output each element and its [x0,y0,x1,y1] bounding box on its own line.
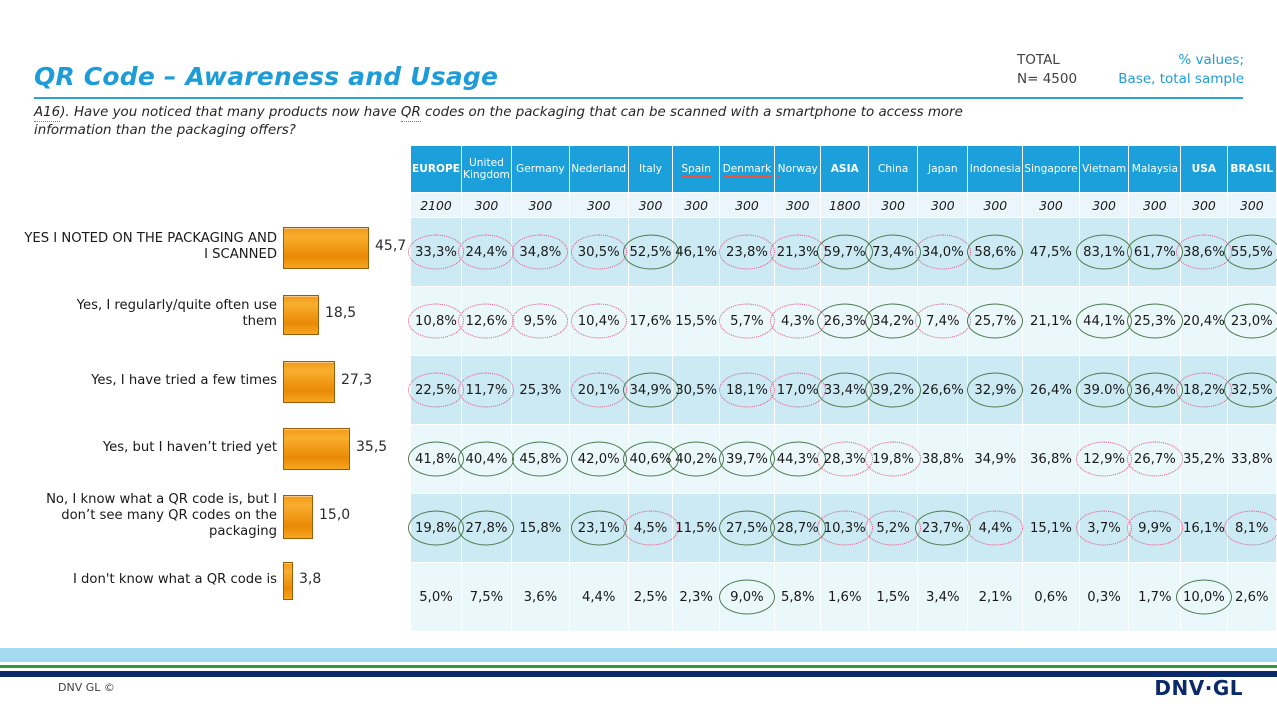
table-cell: 9,9% [1129,494,1181,563]
table-cell: 30,5% [569,218,628,287]
column-base-value: 300 [462,193,512,218]
table-cell: 1,7% [1129,563,1181,632]
cell-value: 1,6% [828,590,862,605]
cell-value: 12,6% [465,314,507,329]
table-cell: 19,8% [411,494,462,563]
column-header-spain[interactable]: Spain [673,146,719,193]
question-code: A16 [34,105,60,122]
cell-value: 42,0% [578,452,620,467]
column-header-vietnam[interactable]: Vietnam [1079,146,1129,193]
bar-rect [283,428,350,470]
table-cell: 38,6% [1181,218,1227,287]
table-cell: 40,2% [673,425,719,494]
table-row: 33,3%24,4%34,8%30,5%52,5%46,1%23,8%21,3%… [411,218,1277,287]
table-cell: 4,3% [775,287,821,356]
cell-value: 40,2% [675,452,717,467]
total-base-block: TOTAL N= 4500 [1017,51,1097,89]
cell-value: 7,5% [470,590,504,605]
column-header-italy[interactable]: Italy [628,146,673,193]
cell-value: 0,6% [1034,590,1068,605]
table-cell: 21,3% [775,218,821,287]
cell-value: 22,5% [415,383,457,398]
cell-value: 19,8% [872,452,914,467]
bar-label: I don't know what a QR code is [0,572,277,588]
cell-value: 34,9% [630,383,672,398]
table-cell: 30,5% [673,356,719,425]
cell-value: 34,0% [922,245,964,260]
table-cell: 34,9% [628,356,673,425]
table-cell: 18,2% [1181,356,1227,425]
column-base-value: 300 [628,193,673,218]
cell-value: 28,3% [824,452,866,467]
cell-value: 11,5% [675,521,717,536]
table-cell: 15,1% [1023,494,1079,563]
column-base-value: 1800 [821,193,869,218]
cell-value: 25,3% [1134,314,1176,329]
table-cell: 36,4% [1129,356,1181,425]
table-cell: 3,4% [918,563,968,632]
cell-value: 16,1% [1183,521,1225,536]
column-base-value: 300 [1181,193,1227,218]
table-cell: 39,7% [719,425,774,494]
table-cell: 32,9% [968,356,1023,425]
cell-value: 39,7% [726,452,768,467]
cell-value: 10,3% [824,521,866,536]
table-cell: 23,1% [569,494,628,563]
column-base-value: 300 [1023,193,1079,218]
question-text: A16). Have you noticed that many product… [34,104,984,139]
table-cell: 33,4% [821,356,869,425]
bar-rect [283,227,369,269]
table-cell: 33,3% [411,218,462,287]
bar-value-label: 3,8 [299,571,321,587]
cell-value: 15,5% [675,314,717,329]
cell-value: 26,4% [1030,383,1072,398]
cell-value: 20,1% [578,383,620,398]
cell-value: 59,7% [824,245,866,260]
table-cell: 41,8% [411,425,462,494]
question-text-part1: ). Have you noticed that many products n… [60,105,401,120]
table-cell: 45,8% [511,425,569,494]
cell-value: 36,8% [1030,452,1072,467]
cell-value: 10,8% [415,314,457,329]
cell-value: 8,1% [1235,521,1269,536]
cell-value: 9,0% [730,590,764,605]
table-cell: 10,8% [411,287,462,356]
table-cell: 20,4% [1181,287,1227,356]
bar-value-label: 18,5 [325,305,356,321]
table-cell: 12,6% [462,287,512,356]
cell-value: 34,2% [872,314,914,329]
cell-value: 23,8% [726,245,768,260]
cell-value: 2,6% [1235,590,1269,605]
footer-band-navy [0,671,1277,677]
column-header-united-kingdom[interactable]: UnitedKingdom [462,146,512,193]
cell-value: 34,8% [519,245,561,260]
table-cell: 0,3% [1079,563,1129,632]
cell-value: 38,6% [1183,245,1225,260]
cell-value: 5,7% [730,314,764,329]
values-note-block: % values; Base, total sample [1094,51,1244,89]
column-header-indonesia[interactable]: Indonesia [968,146,1023,193]
table-base-row: 2100300300300300300300300180030030030030… [411,193,1277,218]
table-cell: 9,0% [719,563,774,632]
cell-value: 15,1% [1030,521,1072,536]
cell-value: 32,5% [1231,383,1273,398]
table-cell: 34,8% [511,218,569,287]
column-header-germany[interactable]: Germany [511,146,569,193]
cell-value: 23,1% [578,521,620,536]
table-cell: 47,5% [1023,218,1079,287]
table-cell: 2,6% [1227,563,1276,632]
cell-value: 20,4% [1183,314,1225,329]
page-title: QR Code – Awareness and Usage [34,62,498,91]
table-cell: 9,5% [511,287,569,356]
cell-value: 21,3% [777,245,819,260]
column-base-value: 300 [869,193,918,218]
table-cell: 7,5% [462,563,512,632]
table-row: 10,8%12,6%9,5%10,4%17,6%15,5%5,7%4,3%26,… [411,287,1277,356]
cell-value: 3,6% [524,590,558,605]
cell-value: 4,4% [979,521,1013,536]
cell-value: 25,7% [974,314,1016,329]
cell-value: 55,5% [1231,245,1273,260]
column-base-value: 300 [1129,193,1181,218]
cell-value: 5,2% [876,521,910,536]
title-divider [34,97,1243,99]
table-cell: 5,7% [719,287,774,356]
table-cell: 11,7% [462,356,512,425]
bar-label: Yes, I have tried a few times [0,373,277,389]
table-cell: 26,3% [821,287,869,356]
cell-value: 1,7% [1138,590,1172,605]
column-header-brasil[interactable]: BRASIL [1227,146,1276,193]
table-cell: 26,6% [918,356,968,425]
column-base-value: 300 [719,193,774,218]
bar-rect [283,562,293,600]
table-cell: 33,8% [1227,425,1276,494]
table-cell: 17,0% [775,356,821,425]
bar-rect [283,361,335,403]
table-cell: 34,2% [869,287,918,356]
table-cell: 3,6% [511,563,569,632]
cell-value: 27,5% [726,521,768,536]
table-cell: 5,2% [869,494,918,563]
table-cell: 28,3% [821,425,869,494]
cell-value: 33,4% [824,383,866,398]
cell-value: 11,7% [465,383,507,398]
table-header-row: EUROPEUnitedKingdomGermanyNederlandItaly… [411,146,1277,193]
table-cell: 1,6% [821,563,869,632]
column-header-nederland[interactable]: Nederland [569,146,628,193]
table-cell: 34,0% [918,218,968,287]
cell-value: 5,0% [419,590,453,605]
cell-value: 28,7% [777,521,819,536]
bar-rect [283,295,319,335]
cell-value: 10,4% [578,314,620,329]
table-cell: 36,8% [1023,425,1079,494]
table-row: 5,0%7,5%3,6%4,4%2,5%2,3%9,0%5,8%1,6%1,5%… [411,563,1277,632]
cell-value: 44,3% [777,452,819,467]
table-cell: 8,1% [1227,494,1276,563]
cell-value: 52,5% [630,245,672,260]
cell-value: 9,5% [524,314,558,329]
table-cell: 18,1% [719,356,774,425]
table-cell: 23,7% [918,494,968,563]
table-cell: 59,7% [821,218,869,287]
cell-value: 10,0% [1183,590,1225,605]
table-cell: 5,8% [775,563,821,632]
total-label: TOTAL [1017,51,1097,70]
table-cell: 38,8% [918,425,968,494]
table-cell: 10,0% [1181,563,1227,632]
table-cell: 40,6% [628,425,673,494]
table-cell: 52,5% [628,218,673,287]
table-cell: 42,0% [569,425,628,494]
table-cell: 11,5% [673,494,719,563]
table-cell: 3,7% [1079,494,1129,563]
table-cell: 2,5% [628,563,673,632]
cell-value: 18,2% [1183,383,1225,398]
cell-value: 61,7% [1134,245,1176,260]
cell-value: 19,8% [415,521,457,536]
cell-value: 26,7% [1134,452,1176,467]
column-base-value: 300 [968,193,1023,218]
table-cell: 10,4% [569,287,628,356]
table-cell: 12,9% [1079,425,1129,494]
cell-value: 73,4% [872,245,914,260]
table-cell: 4,4% [569,563,628,632]
column-base-value: 300 [775,193,821,218]
cell-value: 44,1% [1083,314,1125,329]
table-cell: 61,7% [1129,218,1181,287]
table-cell: 1,5% [869,563,918,632]
cell-value: 7,4% [926,314,960,329]
cell-value: 17,6% [630,314,672,329]
dnv-gl-logo: DNV·GL [1154,676,1243,700]
column-header-norway[interactable]: Norway [775,146,821,193]
table-cell: 58,6% [968,218,1023,287]
bar-label: Yes, but I haven’t tried yet [0,440,277,456]
cell-value: 2,5% [634,590,668,605]
cell-value: 18,1% [726,383,768,398]
cell-value: 3,4% [926,590,960,605]
table-cell: 44,1% [1079,287,1129,356]
table-cell: 15,5% [673,287,719,356]
cell-value: 46,1% [675,245,717,260]
table-cell: 0,6% [1023,563,1079,632]
bar-chart: YES I NOTED ON THE PACKAGING ANDI SCANNE… [0,215,412,615]
values-note-line1: % values; [1094,51,1244,70]
table-cell: 27,8% [462,494,512,563]
cell-value: 47,5% [1030,245,1072,260]
column-header-china[interactable]: China [869,146,918,193]
cell-value: 23,7% [922,521,964,536]
column-header-malaysia[interactable]: Malaysia [1129,146,1181,193]
table-cell: 39.0% [1079,356,1129,425]
table-cell: 15,8% [511,494,569,563]
cell-value: 23,0% [1231,314,1273,329]
bar-value-label: 35,5 [356,439,387,455]
table-cell: 4,4% [968,494,1023,563]
table-cell: 23,0% [1227,287,1276,356]
cell-value: 33,8% [1231,452,1273,467]
table-row: 19,8%27,8%15,8%23,1%4,5%11,5%27,5%28,7%1… [411,494,1277,563]
column-header-asia[interactable]: ASIA [821,146,869,193]
column-base-value: 300 [918,193,968,218]
table-cell: 2,1% [968,563,1023,632]
cell-value: 24,4% [465,245,507,260]
table-cell: 24,4% [462,218,512,287]
table-cell: 20,1% [569,356,628,425]
cell-value: 9,9% [1138,521,1172,536]
values-note-line2: Base, total sample [1094,70,1244,89]
column-base-value: 300 [511,193,569,218]
table-cell: 16,1% [1181,494,1227,563]
column-base-value: 300 [1227,193,1276,218]
table-cell: 2,3% [673,563,719,632]
cell-value: 40,6% [630,452,672,467]
total-n: N= 4500 [1017,70,1097,89]
cell-value: 30,5% [675,383,717,398]
table-cell: 73,4% [869,218,918,287]
table-row: 22,5%11,7%25,3%20,1%34,9%30,5%18,1%17,0%… [411,356,1277,425]
table-cell: 26,7% [1129,425,1181,494]
cell-value: 12,9% [1083,452,1125,467]
cell-value: 36,4% [1134,383,1176,398]
cell-value: 26,3% [824,314,866,329]
table-cell: 27,5% [719,494,774,563]
cell-value: 15,8% [519,521,561,536]
column-header-usa[interactable]: USA [1181,146,1227,193]
table-row: 41,8%40,4%45,8%42,0%40,6%40,2%39,7%44,3%… [411,425,1277,494]
table-cell: 19,8% [869,425,918,494]
table-cell: 46,1% [673,218,719,287]
cell-value: 0,3% [1087,590,1121,605]
table-body: 33,3%24,4%34,8%30,5%52,5%46,1%23,8%21,3%… [411,218,1277,632]
bar-rect [283,495,313,539]
cell-value: 58,6% [974,245,1016,260]
cell-value: 3,7% [1087,521,1121,536]
table-cell: 40,4% [462,425,512,494]
cell-value: 39,2% [872,383,914,398]
cell-value: 83,1% [1083,245,1125,260]
cell-value: 2,1% [979,590,1013,605]
cell-value: 25,3% [519,383,561,398]
cell-value: 21,1% [1030,314,1072,329]
table-cell: 32,5% [1227,356,1276,425]
cell-value: 4,5% [634,521,668,536]
table-cell: 35,2% [1181,425,1227,494]
table-cell: 21,1% [1023,287,1079,356]
footer-band-blue [0,648,1277,662]
table-cell: 28,7% [775,494,821,563]
table-cell: 25,3% [511,356,569,425]
bar-value-label: 45,7 [375,238,406,254]
cell-value: 33,3% [415,245,457,260]
cell-value: 17,0% [777,383,819,398]
table-cell: 17,6% [628,287,673,356]
cell-value: 39.0% [1083,383,1125,398]
table-cell: 22,5% [411,356,462,425]
country-results-table: EUROPEUnitedKingdomGermanyNederlandItaly… [411,146,1277,632]
cell-value: 32,9% [974,383,1016,398]
cell-value: 4,3% [781,314,815,329]
results-table: EUROPEUnitedKingdomGermanyNederlandItaly… [411,146,1277,632]
table-cell: 25,7% [968,287,1023,356]
column-header-denmark[interactable]: Denmark [719,146,774,193]
table-cell: 44,3% [775,425,821,494]
table-cell: 83,1% [1079,218,1129,287]
cell-value: 1,5% [876,590,910,605]
table-cell: 25,3% [1129,287,1181,356]
cell-value: 34,9% [974,452,1016,467]
column-base-value: 300 [1079,193,1129,218]
cell-value: 4,4% [582,590,616,605]
cell-value: 38,8% [922,452,964,467]
column-header-japan[interactable]: Japan [918,146,968,193]
table-cell: 5,0% [411,563,462,632]
cell-value: 2,3% [679,590,713,605]
bar-value-label: 27,3 [341,372,372,388]
table-cell: 10,3% [821,494,869,563]
cell-value: 40,4% [465,452,507,467]
table-cell: 4,5% [628,494,673,563]
table-cell: 34,9% [968,425,1023,494]
bar-label: Yes, I regularly/quite often usethem [0,298,277,330]
cell-value: 27,8% [465,521,507,536]
footer-copyright: DNV GL © [58,681,115,694]
cell-value: 5,8% [781,590,815,605]
table-cell: 39,2% [869,356,918,425]
table-cell: 26,4% [1023,356,1079,425]
column-header-europe[interactable]: EUROPE [411,146,462,193]
column-base-value: 300 [673,193,719,218]
question-qr-term: QR [401,105,421,122]
cell-value: 45,8% [519,452,561,467]
table-cell: 55,5% [1227,218,1276,287]
column-base-value: 2100 [411,193,462,218]
table-cell: 7,4% [918,287,968,356]
cell-value: 26,6% [922,383,964,398]
bar-label: No, I know what a QR code is, but Idon’t… [0,492,277,540]
cell-value: 30,5% [578,245,620,260]
column-base-value: 300 [569,193,628,218]
column-header-singapore[interactable]: Singapore [1023,146,1079,193]
cell-value: 35,2% [1183,452,1225,467]
table-cell: 23,8% [719,218,774,287]
cell-value: 41,8% [415,452,457,467]
bar-label: YES I NOTED ON THE PACKAGING ANDI SCANNE… [0,231,277,263]
bar-value-label: 15,0 [319,507,350,523]
